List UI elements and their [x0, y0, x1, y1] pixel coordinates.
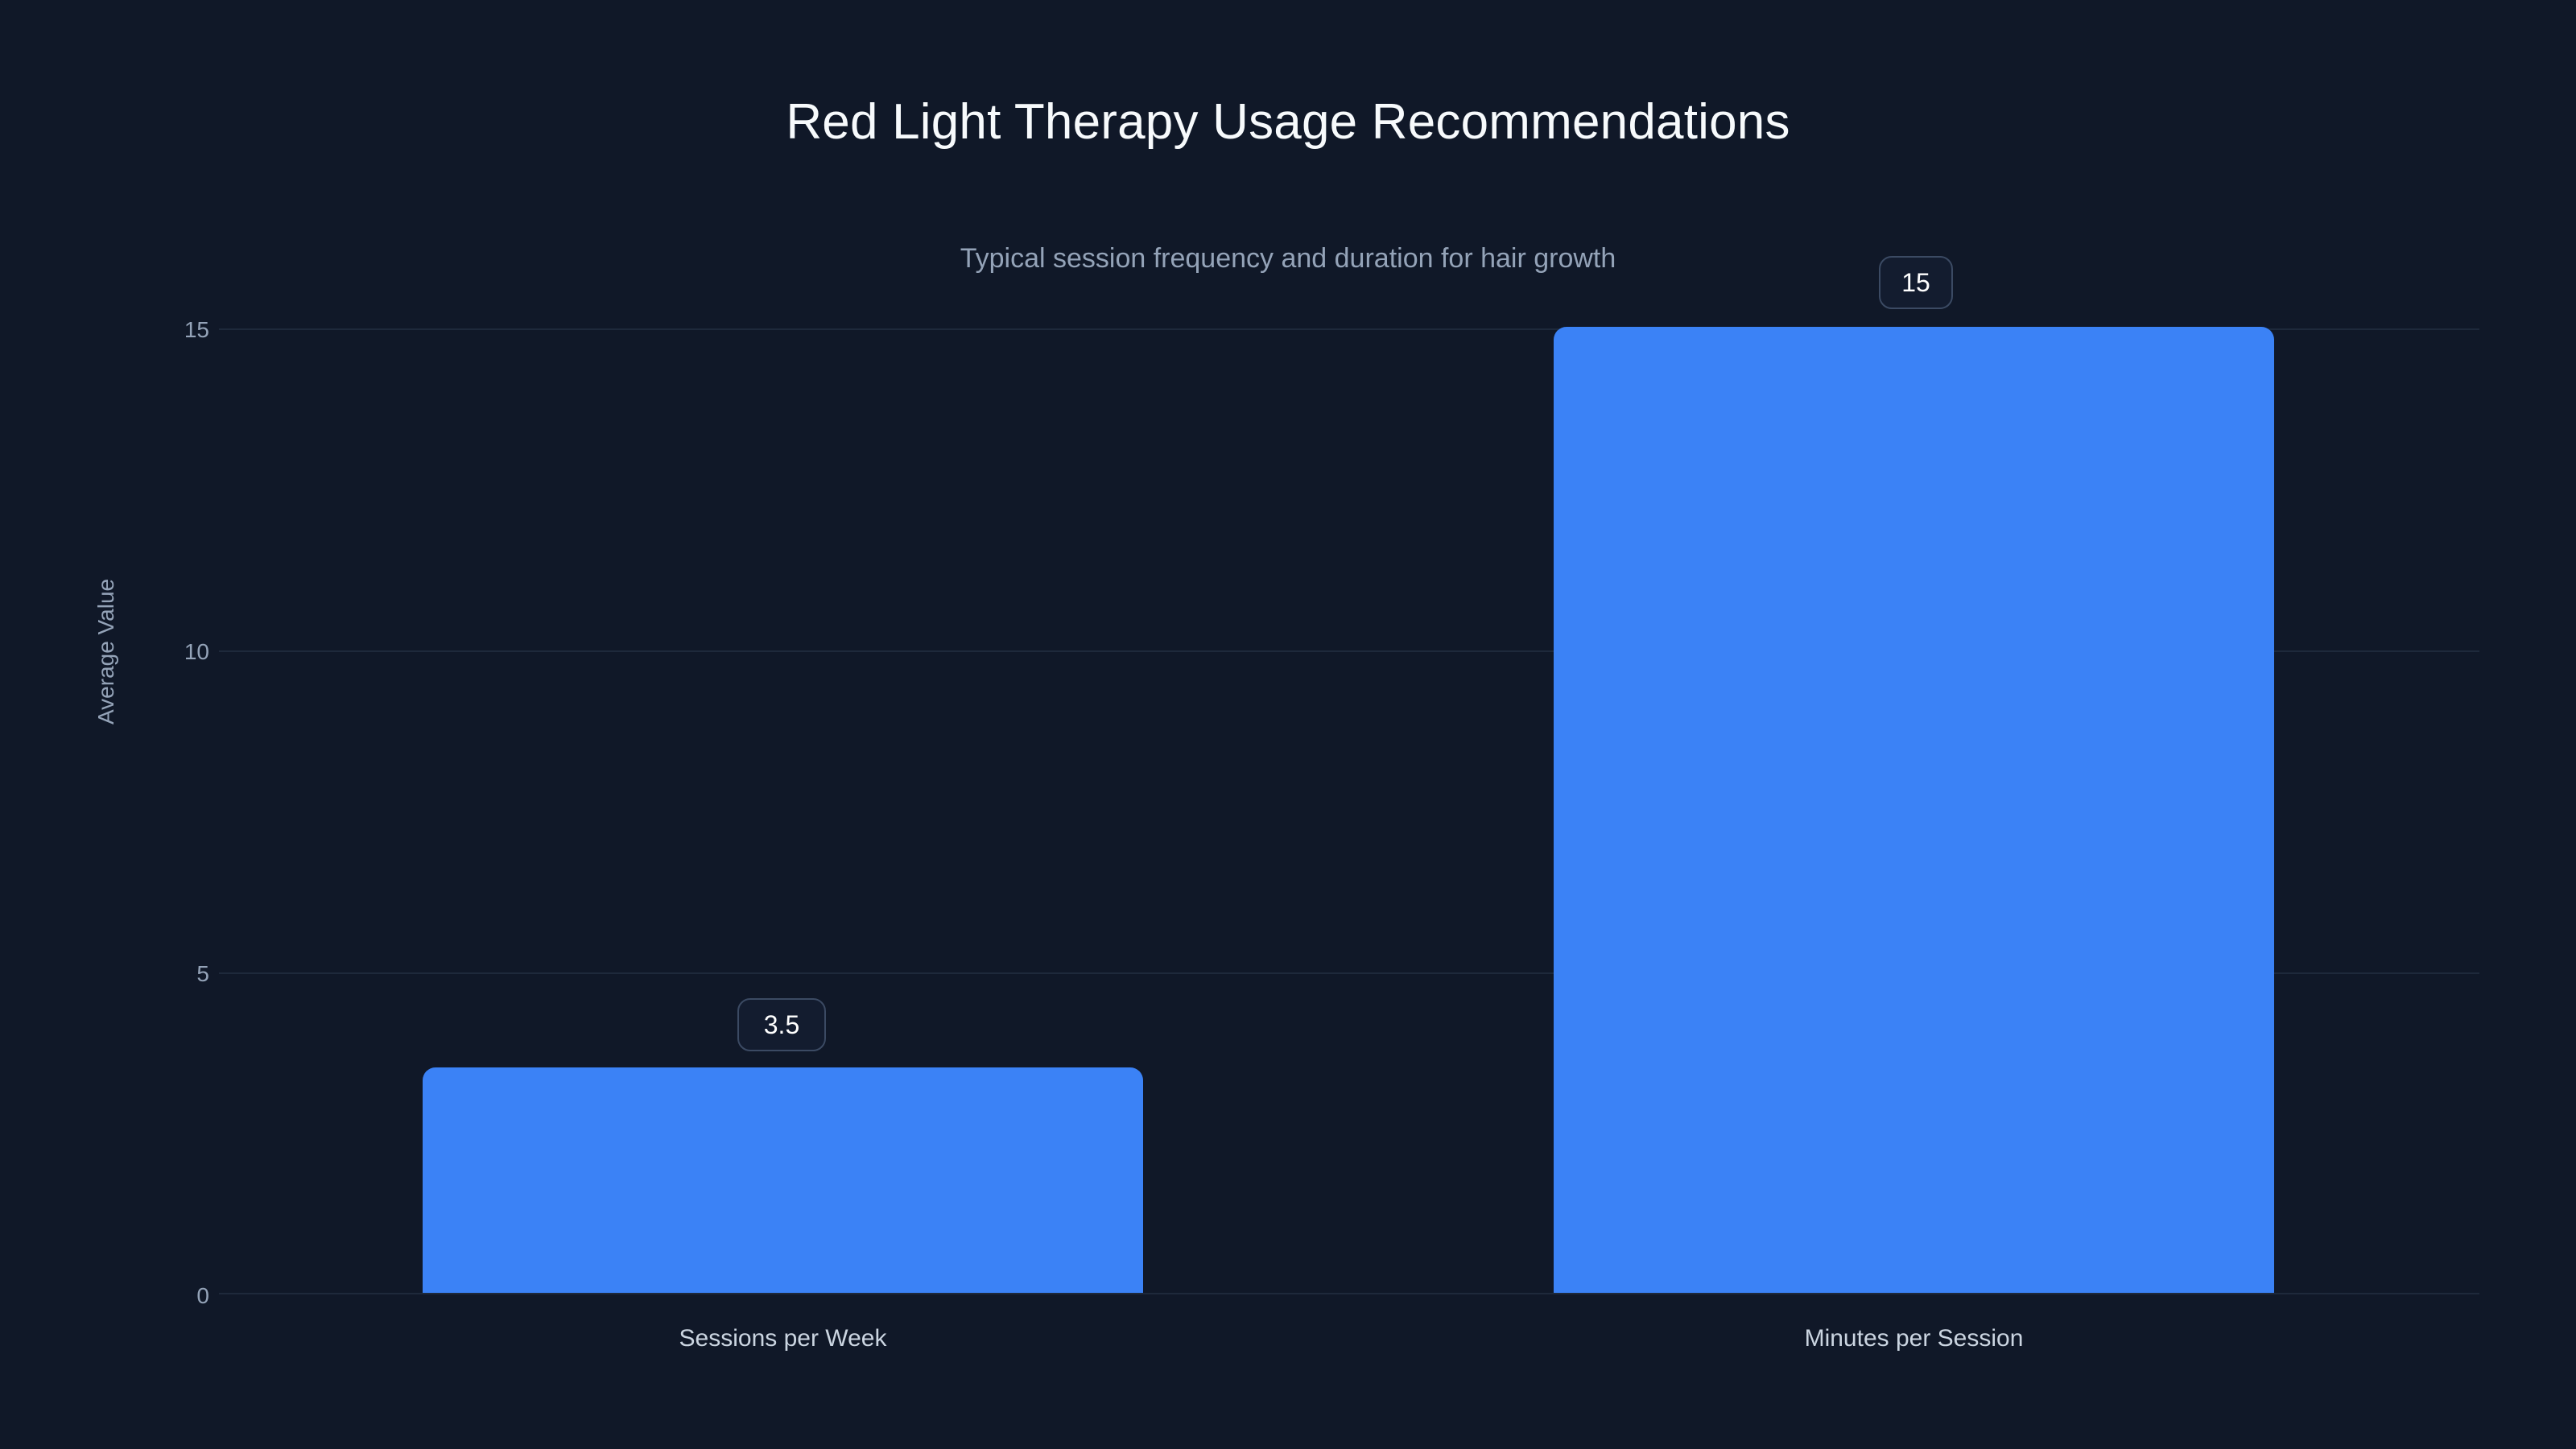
plot-area: [219, 328, 2479, 1294]
value-badge-sessions-per-week: 3.5: [737, 998, 826, 1051]
bar-sessions-per-week[interactable]: [423, 1067, 1143, 1293]
gridline-0: [219, 1293, 2479, 1294]
value-badge-minutes-per-session: 15: [1879, 256, 1953, 309]
chart-canvas: Red Light Therapy Usage Recommendations …: [0, 0, 2576, 1449]
y-axis-title: Average Value: [95, 579, 118, 724]
x-tick-label-minutes-per-session: Minutes per Session: [1554, 1327, 2274, 1351]
chart-subtitle: Typical session frequency and duration f…: [0, 244, 2576, 274]
y-tick-label-15: 15: [161, 319, 209, 341]
y-tick-label-0: 0: [161, 1285, 209, 1307]
y-tick-label-5: 5: [161, 963, 209, 985]
chart-title: Red Light Therapy Usage Recommendations: [0, 95, 2576, 150]
bar-minutes-per-session[interactable]: [1554, 327, 2274, 1293]
x-tick-label-sessions-per-week: Sessions per Week: [423, 1327, 1143, 1351]
y-tick-label-10: 10: [161, 641, 209, 663]
